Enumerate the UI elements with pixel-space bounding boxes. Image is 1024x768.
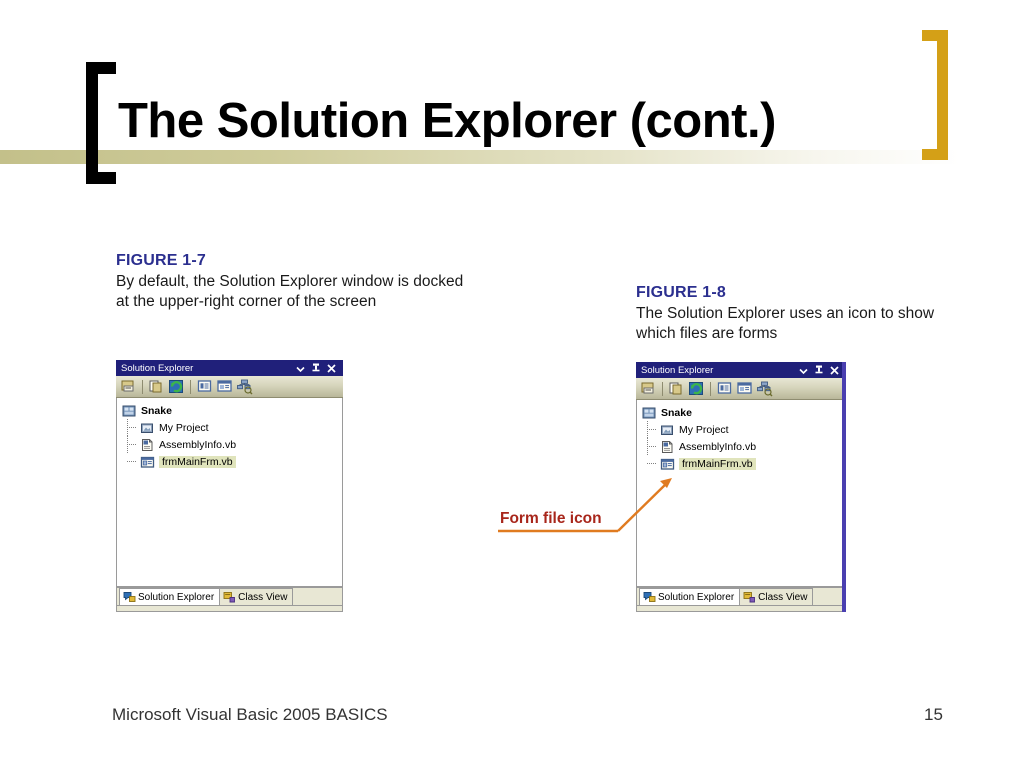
solution-explorer-icon — [123, 591, 136, 603]
tab-solution-explorer[interactable]: Solution Explorer — [119, 588, 220, 605]
tree-row[interactable]: Snake — [117, 402, 342, 419]
tree-connector — [642, 421, 660, 438]
page-title: The Solution Explorer (cont.) — [118, 96, 918, 147]
vb-file-icon — [660, 440, 675, 454]
properties-icon[interactable] — [640, 380, 657, 397]
form-file-icon-callout-arrow — [490, 465, 690, 545]
view-code-icon[interactable] — [196, 378, 213, 395]
tab-label: Solution Explorer — [138, 592, 214, 603]
tab-solution-explorer[interactable]: Solution Explorer — [639, 588, 740, 605]
toolbar-separator — [710, 382, 711, 396]
refresh-icon[interactable] — [168, 378, 185, 395]
tree-connector — [642, 438, 660, 455]
tree-row[interactable]: My Project — [637, 421, 845, 438]
window-titlebar: Solution Explorer — [116, 360, 343, 376]
left-bracket-decoration — [86, 62, 116, 184]
pushpin-icon[interactable] — [312, 363, 320, 373]
view-designer-icon[interactable] — [216, 378, 233, 395]
tree-connector — [122, 419, 140, 436]
window-tabstrip[interactable]: Solution Explorer Class View — [116, 587, 343, 606]
tree-row[interactable]: Snake — [637, 404, 845, 421]
window-title: Solution Explorer — [121, 363, 296, 374]
project-tree[interactable]: Snake My Project — [116, 398, 343, 587]
vb-file-icon — [140, 438, 155, 452]
view-designer-icon[interactable] — [736, 380, 753, 397]
toolbar-separator — [142, 380, 143, 394]
properties-icon[interactable] — [120, 378, 137, 395]
tree-label: frmMainFrm.vb — [679, 458, 756, 470]
solution-icon — [642, 406, 657, 420]
tree-connector — [122, 453, 140, 470]
figure-1-7-label: FIGURE 1-7 — [116, 252, 476, 270]
right-bracket-decoration — [922, 30, 948, 160]
close-icon[interactable] — [830, 366, 839, 375]
tree-row[interactable]: AssemblyInfo.vb — [637, 438, 845, 455]
my-project-icon — [660, 423, 675, 437]
close-icon[interactable] — [327, 364, 336, 373]
figure-1-7-caption: FIGURE 1-7 By default, the Solution Expl… — [116, 252, 476, 312]
solution-explorer-window-left[interactable]: Solution Explorer — [116, 360, 343, 612]
page-number: 15 — [924, 705, 943, 725]
tree-label: My Project — [159, 422, 209, 434]
tab-label: Solution Explorer — [658, 592, 734, 603]
view-code-icon[interactable] — [716, 380, 733, 397]
tab-class-view[interactable]: Class View — [220, 588, 293, 605]
my-project-icon — [140, 421, 155, 435]
window-toolbar[interactable] — [636, 378, 846, 400]
figure-1-8-caption: FIGURE 1-8 The Solution Explorer uses an… — [636, 284, 936, 344]
window-right-edge-strip — [842, 362, 846, 612]
show-all-files-icon[interactable] — [668, 380, 685, 397]
tree-row[interactable]: AssemblyInfo.vb — [117, 436, 342, 453]
title-accent-band — [0, 150, 960, 164]
toolbar-separator — [662, 382, 663, 396]
slide-canvas: The Solution Explorer (cont.) FIGURE 1-7… — [0, 0, 1024, 768]
window-bottom-edge — [636, 606, 846, 612]
callout-label: Form file icon — [500, 510, 602, 528]
class-view-icon — [223, 591, 236, 603]
tree-label: Snake — [661, 407, 692, 419]
tab-label: Class View — [238, 592, 287, 603]
toolbar-separator — [190, 380, 191, 394]
tree-label: AssemblyInfo.vb — [679, 441, 756, 453]
footer-text: Microsoft Visual Basic 2005 BASICS — [112, 705, 388, 725]
tree-connector — [122, 436, 140, 453]
class-diagram-icon[interactable] — [236, 378, 253, 395]
solution-icon — [122, 404, 137, 418]
window-tabstrip[interactable]: Solution Explorer Class View — [636, 587, 846, 606]
class-diagram-icon[interactable] — [756, 380, 773, 397]
chevron-down-icon[interactable] — [296, 364, 305, 373]
tree-row[interactable]: frmMainFrm.vb — [117, 453, 342, 470]
refresh-icon[interactable] — [688, 380, 705, 397]
window-titlebar: Solution Explorer — [636, 362, 846, 378]
window-bottom-edge — [116, 606, 343, 612]
class-view-icon — [743, 591, 756, 603]
solution-explorer-icon — [643, 591, 656, 603]
tree-row[interactable]: My Project — [117, 419, 342, 436]
figure-1-7-text: By default, the Solution Explorer window… — [116, 272, 476, 312]
tree-label: AssemblyInfo.vb — [159, 439, 236, 451]
figure-1-8-label: FIGURE 1-8 — [636, 284, 936, 302]
tree-label: My Project — [679, 424, 729, 436]
tab-label: Class View — [758, 592, 807, 603]
window-title: Solution Explorer — [641, 365, 799, 376]
window-toolbar[interactable] — [116, 376, 343, 398]
figure-1-8-text: The Solution Explorer uses an icon to sh… — [636, 304, 936, 344]
tab-class-view[interactable]: Class View — [740, 588, 813, 605]
tree-label: frmMainFrm.vb — [159, 456, 236, 468]
show-all-files-icon[interactable] — [148, 378, 165, 395]
pushpin-icon[interactable] — [815, 365, 823, 375]
chevron-down-icon[interactable] — [799, 366, 808, 375]
form-file-icon — [140, 455, 155, 469]
tree-label: Snake — [141, 405, 172, 417]
